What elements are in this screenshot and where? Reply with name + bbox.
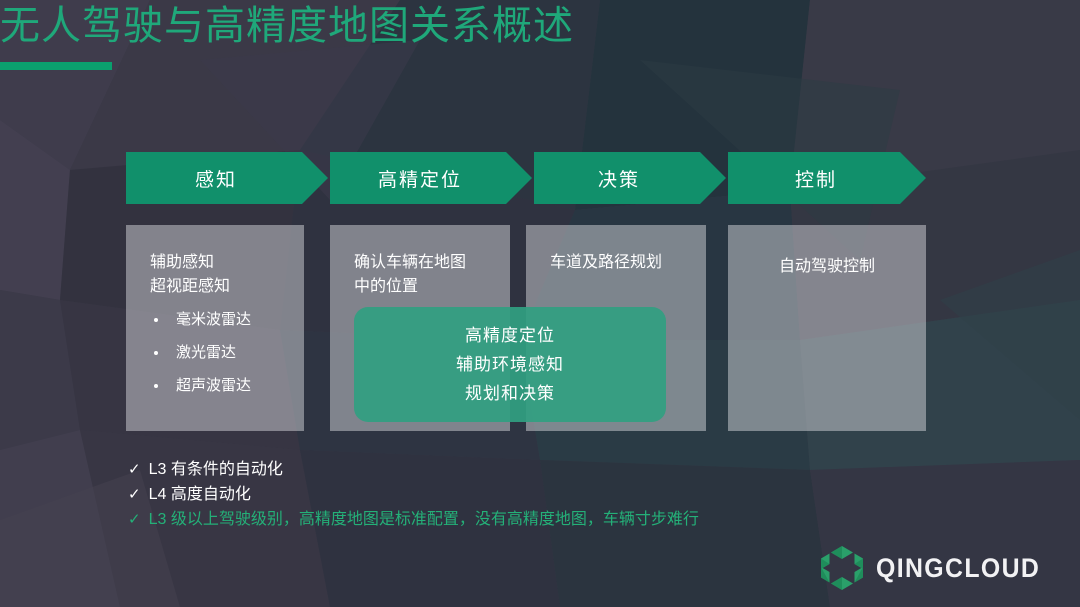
callout-line: 辅助环境感知 [456, 356, 564, 374]
list-item-label: 毫米波雷达 [176, 311, 251, 328]
check-icon: ✓ [128, 483, 141, 506]
stage-arrow-hd-localization[interactable]: 高精定位 [330, 152, 532, 204]
stage-arrow-perception[interactable]: 感知 [126, 152, 328, 204]
list-item: ✓ L3 级以上驾驶级别，高精度地图是标准配置，没有高精度地图，车辆寸步难行 [128, 508, 948, 531]
list-item: 毫米波雷达 [150, 311, 286, 328]
title-underline-rule [0, 62, 112, 70]
page-title: 无人驾驶与高精度地图关系概述 [0, 0, 900, 52]
list-item-label: L3 级以上驾驶级别，高精度地图是标准配置，没有高精度地图，车辆寸步难行 [149, 508, 699, 531]
autonomy-level-checklist: ✓ L3 有条件的自动化 ✓ L4 高度自动化 ✓ L3 级以上驾驶级别，高精度… [128, 458, 948, 533]
hd-map-callout-box: 高精度定位 辅助环境感知 规划和决策 [354, 307, 666, 422]
panel-heading: 自动驾驶控制 [728, 251, 926, 279]
list-item: 激光雷达 [150, 344, 286, 361]
list-item: 超声波雷达 [150, 377, 286, 394]
callout-line: 高精度定位 [465, 327, 555, 345]
panel-perception: 辅助感知 超视距感知 毫米波雷达 激光雷达 超声波雷达 [126, 225, 304, 431]
list-item-label: L3 有条件的自动化 [149, 458, 283, 481]
bullet-dot-icon [154, 384, 158, 388]
bullet-dot-icon [154, 351, 158, 355]
stage-arrow-control[interactable]: 控制 [728, 152, 926, 204]
panel-heading: 辅助感知 超视距感知 [150, 251, 286, 299]
qingcloud-hexagon-icon [820, 545, 864, 591]
stage-arrow-label: 控制 [795, 165, 859, 192]
slide-canvas: 无人驾驶与高精度地图关系概述 感知 高精定位 决策 控制 辅助感知 超视距感知 [0, 0, 1080, 607]
stage-arrow-decision[interactable]: 决策 [534, 152, 726, 204]
stage-arrow-label: 决策 [598, 165, 662, 192]
qingcloud-logo: QINGCLOUD [820, 545, 1055, 591]
stage-arrow-label: 高精定位 [378, 165, 484, 192]
panel-control: 自动驾驶控制 [728, 225, 926, 431]
callout-line: 规划和决策 [465, 385, 555, 403]
stage-arrow-label: 感知 [195, 165, 259, 192]
list-item-label: 激光雷达 [176, 344, 236, 361]
list-item: ✓ L3 有条件的自动化 [128, 458, 948, 481]
list-item-label: 超声波雷达 [176, 377, 251, 394]
check-icon: ✓ [128, 508, 141, 531]
panel-bullet-list: 毫米波雷达 激光雷达 超声波雷达 [150, 311, 286, 394]
panel-heading: 确认车辆在地图 中的位置 [354, 251, 492, 299]
list-item-label: L4 高度自动化 [149, 483, 251, 506]
stage-arrow-row: 感知 高精定位 决策 控制 [126, 152, 926, 204]
check-icon: ✓ [128, 458, 141, 481]
panel-heading: 车道及路径规划 [550, 251, 688, 275]
qingcloud-wordmark: QINGCLOUD [876, 553, 1040, 584]
bullet-dot-icon [154, 318, 158, 322]
title-block: 无人驾驶与高精度地图关系概述 [0, 0, 900, 70]
list-item: ✓ L4 高度自动化 [128, 483, 948, 506]
